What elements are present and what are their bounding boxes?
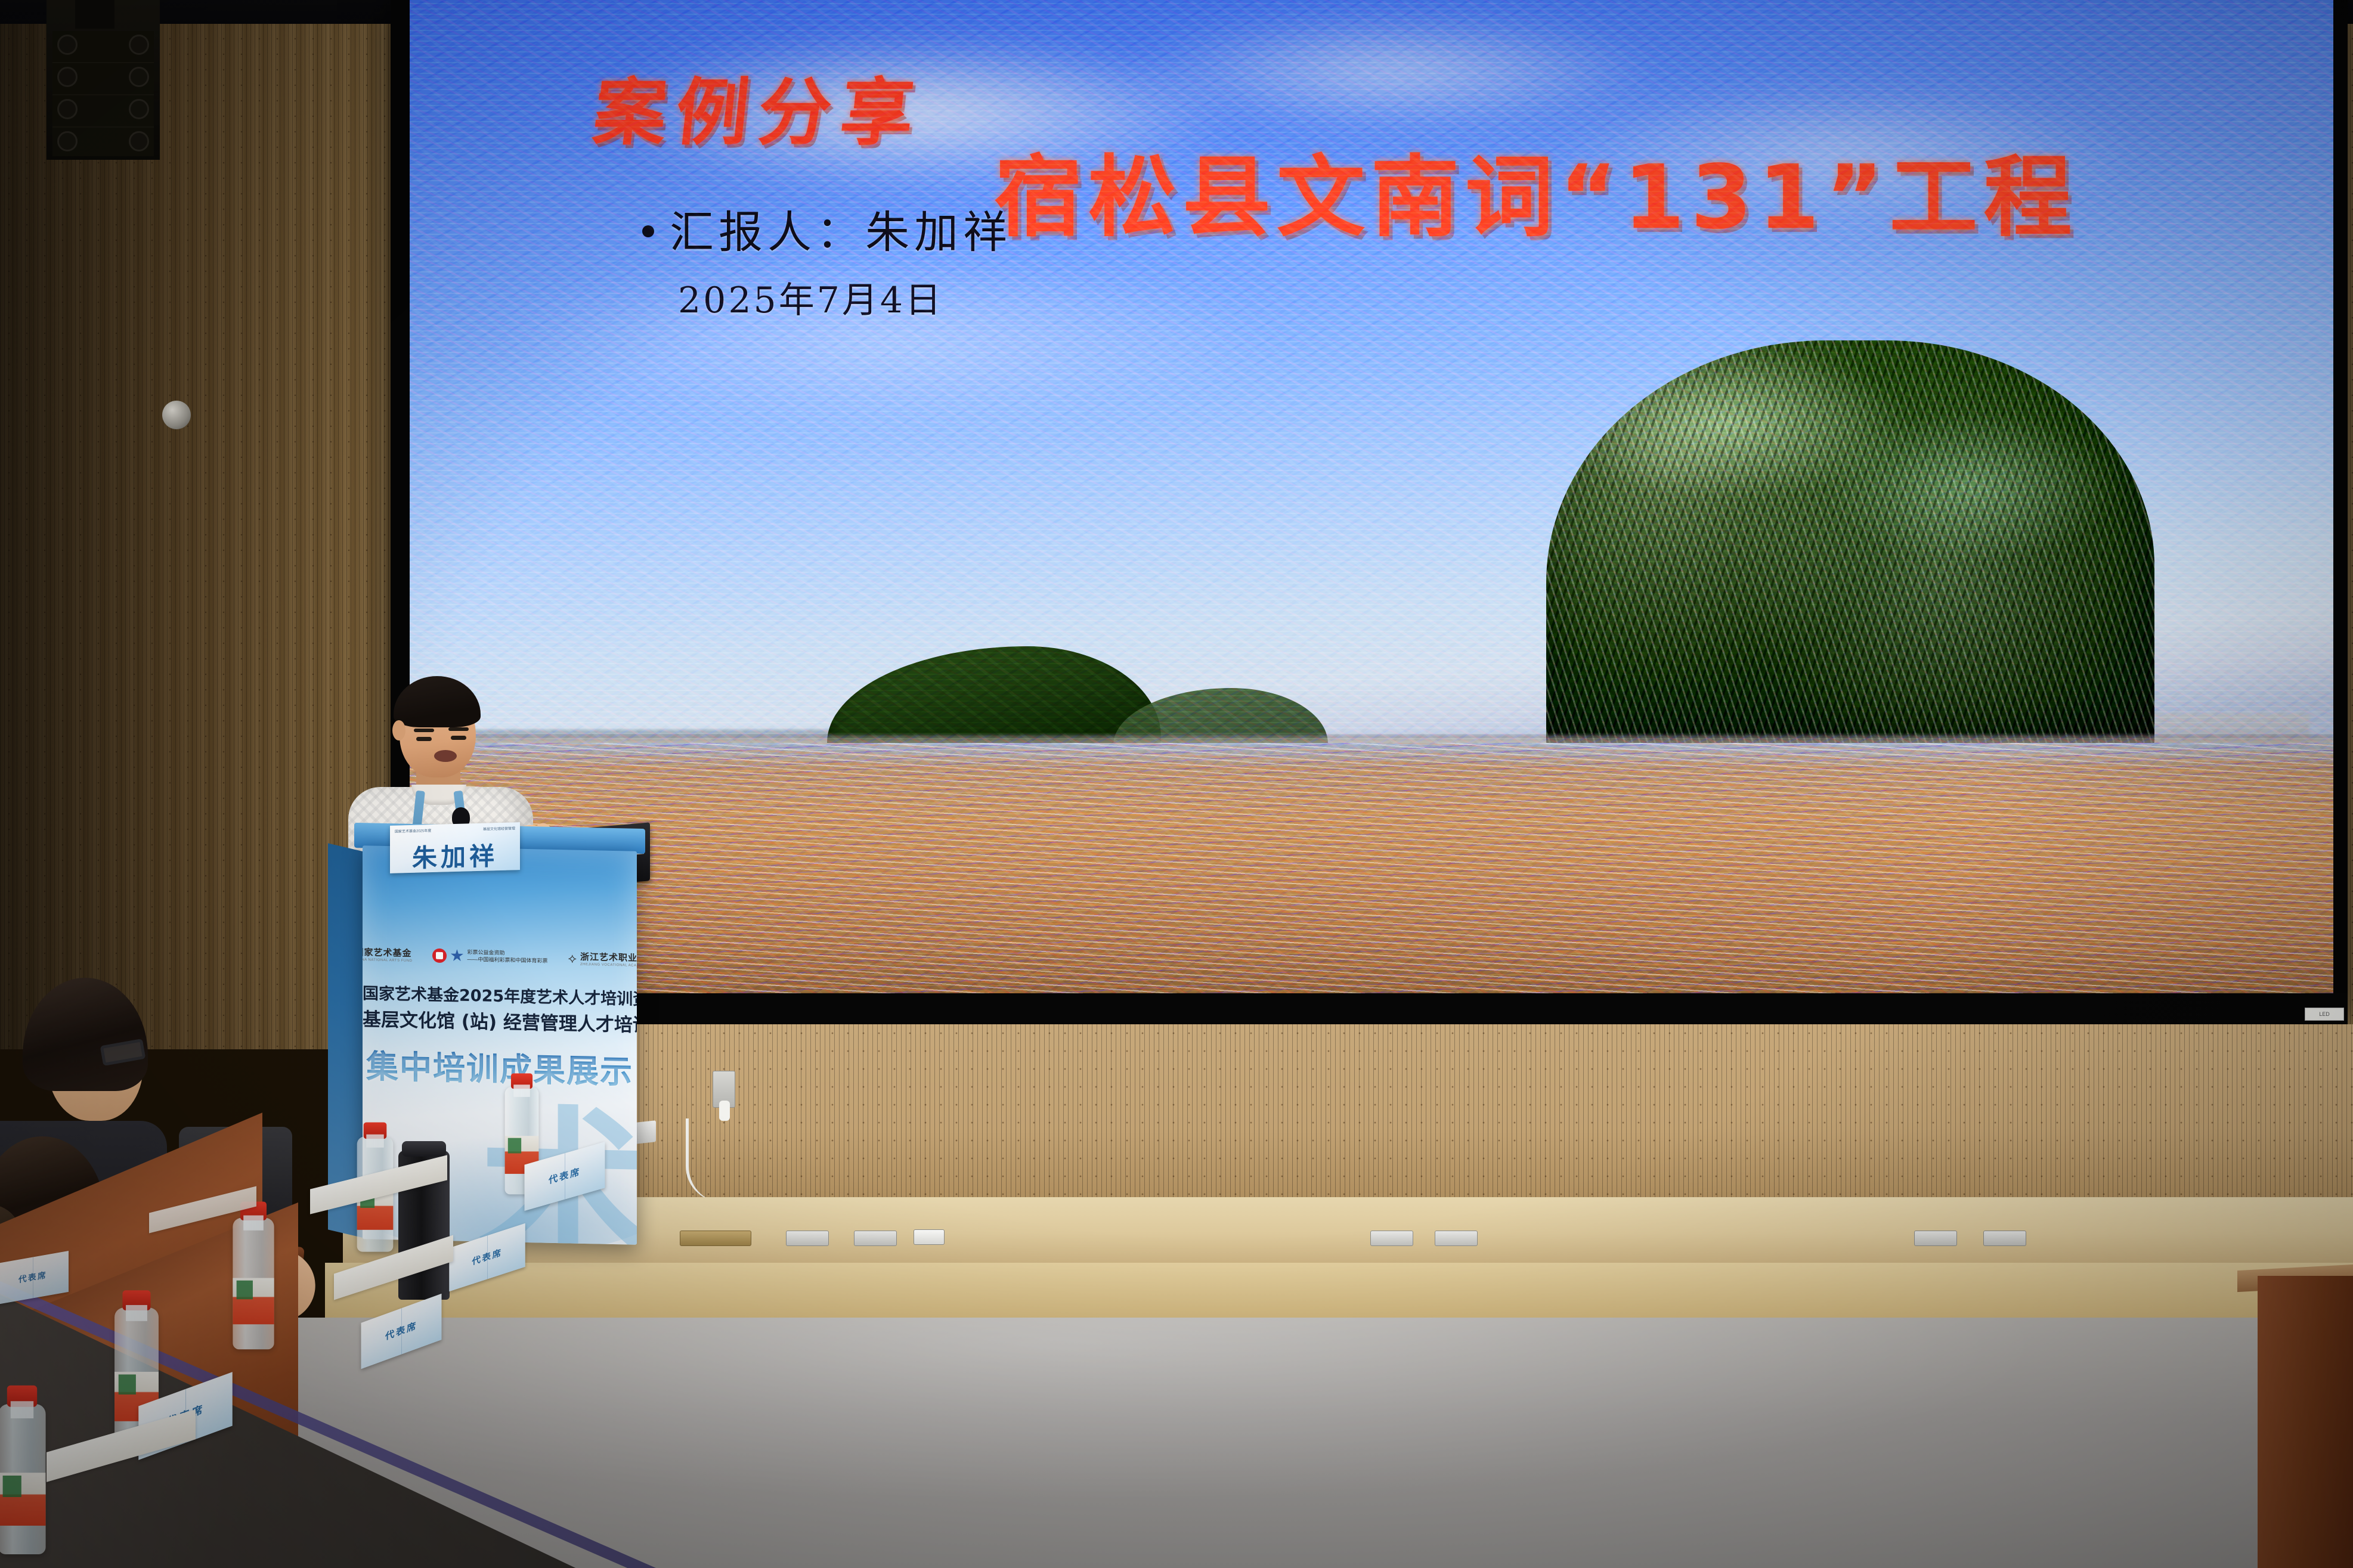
name-card-header-left: 国家艺术基金2025年度 (395, 828, 431, 836)
ceiling-speaker-array (47, 0, 160, 160)
lake-water (410, 743, 2333, 993)
presenter-eye (416, 737, 432, 741)
slide-title: 宿松县文南词“131”工程 (994, 125, 2078, 253)
side-desk (2258, 1276, 2353, 1568)
presenter-eye (451, 736, 466, 740)
floor-outlet (1914, 1231, 1957, 1246)
floor-outlet (786, 1231, 829, 1246)
presenter-brow (414, 729, 434, 732)
bullet-dot (642, 225, 654, 237)
thermos-lid (402, 1141, 446, 1157)
tent-card-text: 代表席 (0, 1264, 69, 1288)
led-video-wall: 案例分享 宿松县文南词“131”工程 汇报人：朱加祥 2025年7月4日 LED (391, 0, 2348, 1024)
slide-presenter-text: 汇报人：朱加祥 (670, 207, 1012, 258)
stage-back-wall (391, 1024, 2353, 1197)
presenter-brow (448, 727, 469, 731)
screen-corner-label: LED (2305, 1008, 2344, 1021)
presenter-name-card: 国家艺术基金2025年度 基层文化馆经营管理 朱加祥 (390, 822, 520, 873)
floor-outlet (1983, 1231, 2026, 1246)
name-card-header: 国家艺术基金2025年度 基层文化馆经营管理 (395, 825, 515, 835)
socket-plug (719, 1101, 730, 1121)
slide-presenter-line: 汇报人：朱加祥 (642, 197, 1012, 261)
slide-date: 2025年7月4日 (678, 271, 943, 323)
presenter-hair (394, 676, 481, 727)
bottle-label (0, 1473, 46, 1526)
floor-outlet (854, 1231, 897, 1246)
name-card-header-right: 基层文化馆经营管理 (483, 825, 515, 833)
water-bottle[interactable] (0, 1404, 46, 1554)
name-card-name: 朱加祥 (390, 835, 520, 873)
presenter-ear (392, 720, 405, 740)
slide-kicker: 案例分享 (589, 54, 930, 159)
conference-photo: 案例分享 宿松县文南词“131”工程 汇报人：朱加祥 2025年7月4日 LED (0, 0, 2353, 1568)
main-island-rock (1546, 340, 2154, 758)
led-screen-surface: 案例分享 宿松县文南词“131”工程 汇报人：朱加祥 2025年7月4日 (410, 0, 2333, 993)
presenter-mouth (434, 750, 457, 762)
audience-hair (23, 978, 148, 1091)
floor-outlet (1370, 1231, 1413, 1246)
bottle-label (233, 1278, 274, 1325)
wall-knob (162, 401, 191, 429)
floor-outlet (680, 1231, 751, 1246)
floor-outlet (1435, 1231, 1478, 1246)
floor-outlet (914, 1229, 945, 1245)
water-bottle[interactable] (233, 1218, 274, 1350)
